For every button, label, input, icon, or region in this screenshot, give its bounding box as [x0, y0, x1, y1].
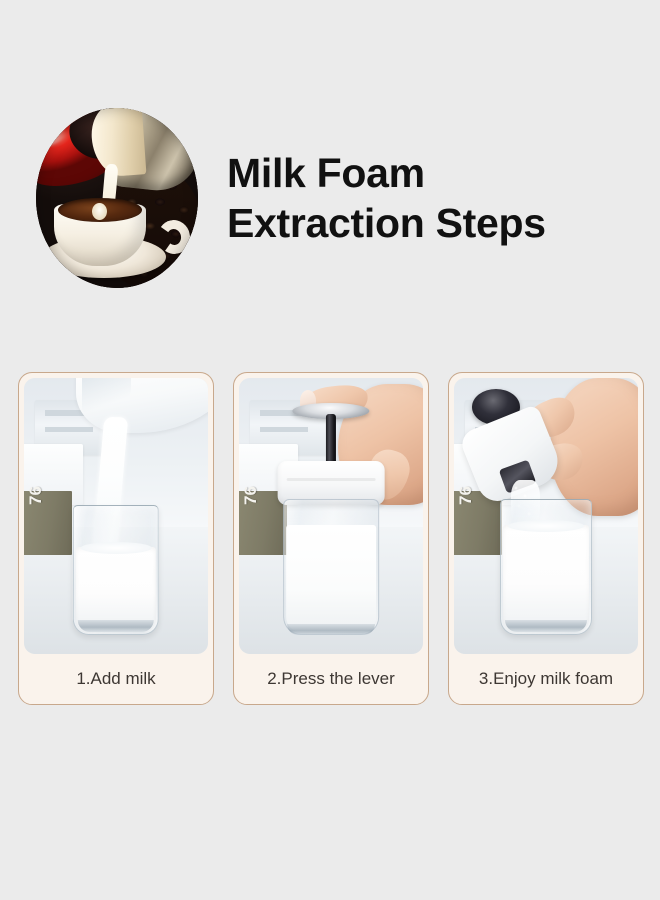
step-caption-2: 2.Press the lever — [239, 654, 423, 704]
step-card-3[interactable]: 76 3.Enjoy milk foam — [448, 372, 644, 705]
pouring-milk-foam-into-glass-photo: 76 — [454, 378, 638, 654]
steps-row: 76 1.Add milk 76 — [18, 372, 644, 705]
box-number-label: 76 — [456, 486, 476, 505]
pouring-milk-into-glass-photo: 76 — [24, 378, 208, 654]
frother-lid[interactable] — [278, 461, 385, 505]
frother-jar — [283, 499, 379, 634]
frother-base — [287, 624, 375, 635]
step-caption-3: 3.Enjoy milk foam — [454, 654, 638, 704]
coffee-cup-milk-pour-photo — [36, 108, 198, 288]
milk-splash — [92, 203, 107, 220]
step-caption-1: 1.Add milk — [24, 654, 208, 704]
glass-base — [78, 620, 154, 632]
box-number-label: 76 — [26, 486, 46, 505]
pressing-frother-plunger-photo: 76 — [239, 378, 423, 654]
glass-base — [505, 620, 587, 632]
milk-in-frother — [286, 525, 376, 632]
drinking-glass — [73, 505, 159, 635]
box-number-label: 76 — [241, 486, 261, 505]
drinking-glass — [500, 499, 592, 634]
step-card-1[interactable]: 76 1.Add milk — [18, 372, 214, 705]
page-title: Milk Foam Extraction Steps — [227, 148, 546, 248]
page-header: Milk Foam Extraction Steps — [0, 103, 660, 293]
step-card-2[interactable]: 76 2.Press the lever — [233, 372, 429, 705]
milk-foam-in-glass — [503, 525, 589, 632]
